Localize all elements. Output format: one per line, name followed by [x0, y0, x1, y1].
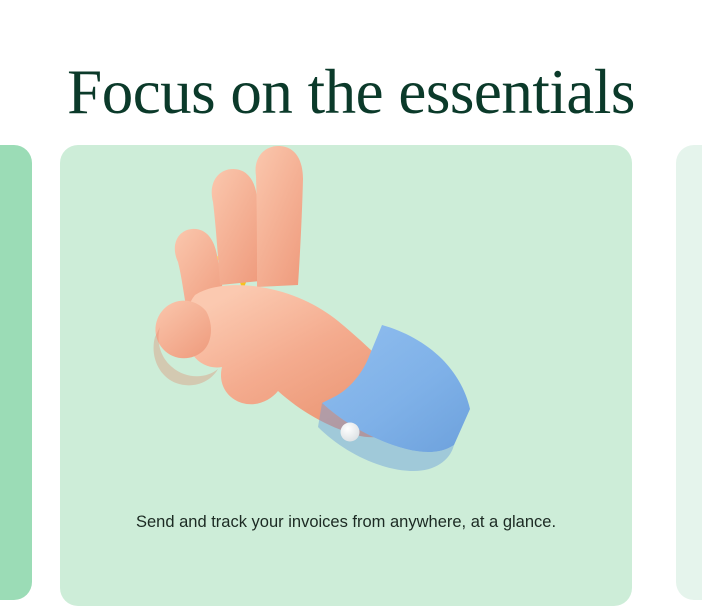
cuff-button-icon	[341, 423, 360, 442]
ok-hand-illustration	[60, 145, 632, 505]
card-caption: Send and track your invoices from anywhe…	[60, 510, 632, 535]
carousel-card-right-peek[interactable]	[676, 145, 702, 600]
feature-card-carousel: Send and track your invoices from anywhe…	[0, 145, 702, 611]
carousel-card-left-peek[interactable]	[0, 145, 32, 600]
carousel-card-center[interactable]: Send and track your invoices from anywhe…	[60, 145, 632, 606]
page-title: Focus on the essentials	[0, 42, 702, 142]
